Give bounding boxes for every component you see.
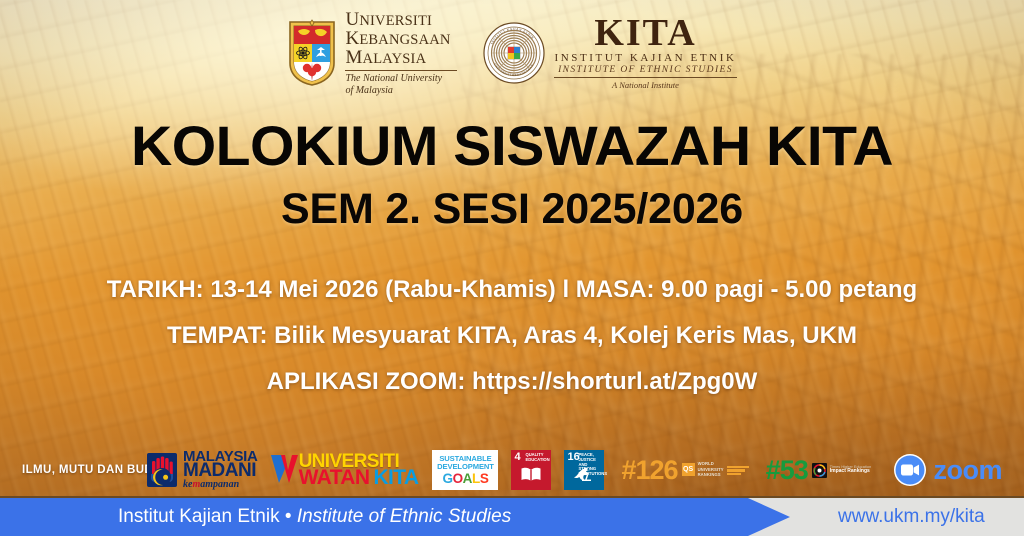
dove-gavel-icon [573, 466, 595, 487]
zoom-wordmark: zoom [934, 457, 1003, 484]
event-details: TARIKH: 13-14 Mei 2026 (Rabu-Khamis) l M… [0, 278, 1024, 416]
kita-divider [554, 77, 736, 78]
ukm-wordmark: UNIVERSITI KEBANGSAAN MALAYSIA The Natio… [345, 10, 457, 96]
uwk-word-kita: KITA [373, 469, 418, 486]
institute-name-english: Institute of Ethnic Studies [297, 506, 511, 527]
ukm-motto: ILMU, MUTU DAN BUDI [22, 464, 157, 476]
sdg-goal-4-number: 4 [514, 452, 520, 463]
madani-wordmark: MALAYSIA MADANI kemampanan [183, 451, 258, 490]
qs-line-1: WORLD [698, 462, 724, 467]
ukm-line-2: KEBANGSAAN [345, 29, 457, 48]
ukm-tagline: The National University of Malaysia [345, 73, 457, 96]
uwk-word-watan: WATAN [299, 469, 370, 486]
kita-english-name: INSTITUTE OF ETHNIC STUDIES [558, 65, 733, 75]
event-poster: UNIVERSITI KEBANGSAAN MALAYSIA The Natio… [0, 0, 1024, 536]
sdg-goal-4-caption: QUALITY EDUCATION [525, 453, 549, 463]
uwk-wordmark: UNIVERSITI WATAN KITA [299, 454, 419, 487]
the-line-2: Impact Rankings [830, 469, 871, 475]
kita-seal-icon: INSTITUT KAJIAN ETNIK UNIVERSITI KEBANGS… [483, 22, 545, 84]
qs-ranking-mark: QS WORLD UNIVERSITY RANKINGS [682, 462, 749, 478]
kita-acronym: KITA [594, 16, 696, 51]
universiti-watan-kita-logo: UNIVERSITI WATAN KITA [268, 450, 419, 490]
poster-subtitle: SEM 2. SESI 2025/2026 [0, 188, 1024, 231]
institute-name-separator: • [280, 506, 297, 527]
ukm-shield-icon [287, 19, 337, 87]
ukm-logo: UNIVERSITI KEBANGSAAN MALAYSIA The Natio… [287, 10, 457, 96]
qs-rank-number: #126 [621, 457, 677, 484]
website-url[interactable]: www.ukm.my/kita [838, 506, 985, 528]
bottom-bar: Institut Kajian Etnik • Institute of Eth… [0, 496, 1024, 536]
qs-logo-icon: QS [682, 463, 695, 476]
the-ranking-mark: Times Higher Education Impact Rankings [812, 463, 871, 478]
kita-status: A National Institute [612, 80, 679, 90]
qs-bar-marks [727, 466, 749, 475]
the-ranking-text: Times Higher Education Impact Rankings [830, 465, 871, 475]
kita-wordmark: KITA INSTITUT KAJIAN ETNIK INSTITUTE OF … [554, 16, 736, 90]
ukm-line-1: UNIVERSITI [345, 10, 457, 29]
poster-title: KOLOKIUM SISWAZAH KITA [0, 118, 1024, 174]
detail-zoom-link[interactable]: APLIKASI ZOOM: https://shorturl.at/Zpg0W [0, 370, 1024, 394]
sdg-wordmark-logo: SUSTAINABLE DEVELOPMENT GOALS [432, 450, 498, 490]
detail-venue: TEMPAT: Bilik Mesyuarat KITA, Aras 4, Ko… [0, 324, 1024, 348]
open-book-icon [520, 466, 542, 487]
sdg-goal-4-tile: 4 QUALITY EDUCATION [511, 450, 551, 490]
ukm-divider [345, 70, 457, 71]
zoom-logo: zoom [893, 453, 1003, 487]
partner-logo-strip: ILMU, MUTU DAN BUDI [0, 442, 1024, 498]
bottom-bar-arrow: Institut Kajian Etnik • Institute of Eth… [0, 498, 790, 536]
the-impact-ranking-badge: #53 Times Higher Education [766, 457, 872, 484]
institute-name: Institut Kajian Etnik • Institute of Eth… [118, 506, 511, 528]
the-impact-rankings-icon [812, 463, 827, 478]
kita-logo: INSTITUT KAJIAN ETNIK UNIVERSITI KEBANGS… [483, 16, 736, 90]
partner-logos: MALAYSIA MADANI kemampanan UNIVERSITI WA… [146, 450, 871, 490]
madani-line-2: MADANI [183, 463, 258, 479]
zoom-video-camera-icon [893, 453, 927, 487]
madani-tagline: kemampanan [183, 481, 258, 490]
sdg-wordmark-goals: GOALS [442, 472, 488, 486]
qs-line-3: RANKINGS [698, 473, 724, 478]
malaysia-madani-logo: MALAYSIA MADANI kemampanan [146, 451, 258, 490]
qs-ranking-badge: #126 QS WORLD UNIVERSITY RANKINGS [621, 457, 748, 484]
kita-malay-name: INSTITUT KAJIAN ETNIK [554, 52, 736, 64]
the-rank-number: #53 [766, 457, 808, 484]
qs-ranking-text: WORLD UNIVERSITY RANKINGS [698, 462, 724, 478]
sdg-wordmark-line-2: DEVELOPMENT [437, 463, 494, 471]
madani-hand-crescent-icon [146, 452, 178, 488]
sdg-goal-16-tile: 16 PEACE, JUSTICE AND STRONG INSTITUTION… [564, 450, 604, 490]
ukm-line-3: MALAYSIA [345, 48, 457, 67]
header-logo-row: UNIVERSITI KEBANGSAAN MALAYSIA The Natio… [0, 8, 1024, 98]
detail-date-time: TARIKH: 13-14 Mei 2026 (Rabu-Khamis) l M… [0, 278, 1024, 302]
institute-name-malay: Institut Kajian Etnik [118, 506, 280, 527]
